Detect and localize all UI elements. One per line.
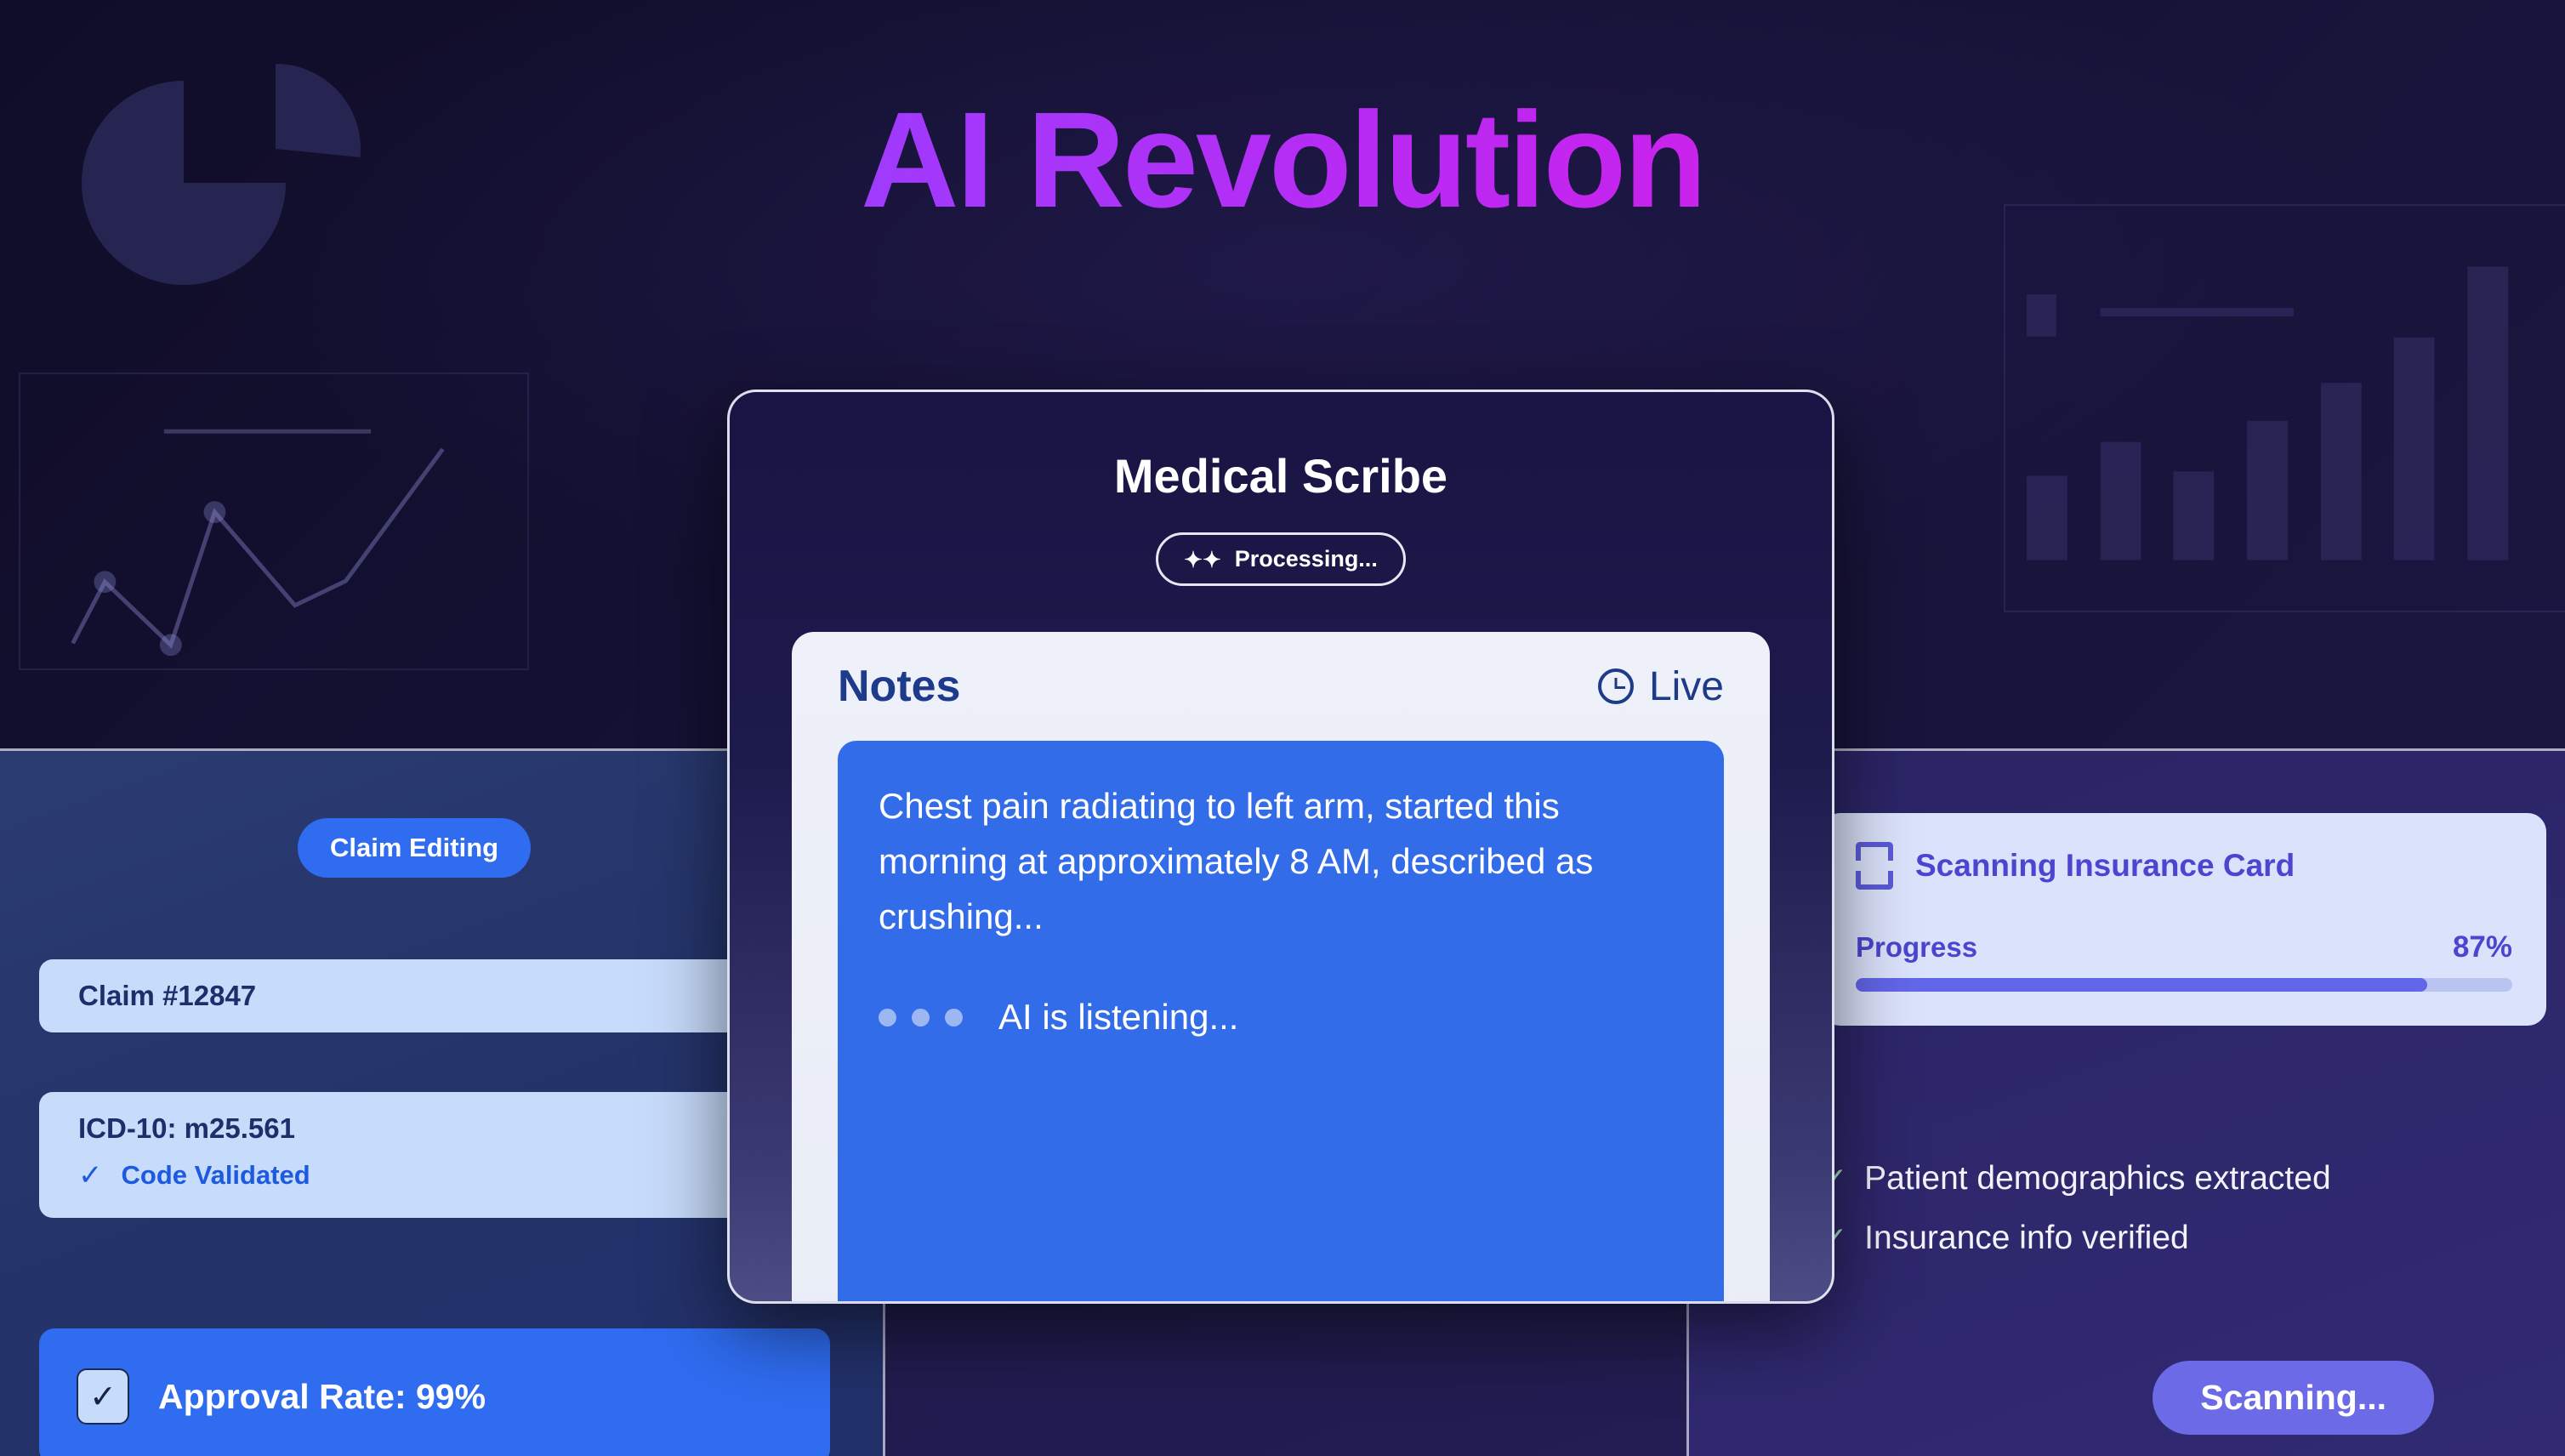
ai-listening-label: AI is listening... [998,997,1238,1038]
approval-rate-card[interactable]: ✓ Approval Rate: 99% [39,1328,830,1456]
live-label: Live [1649,663,1724,710]
notes-heading: Notes [838,661,960,712]
approval-checkbox[interactable]: ✓ [77,1368,129,1425]
progress-label: Progress [1856,931,1977,964]
claim-number-label: Claim #12847 [78,980,256,1012]
scan-card-header: Scanning Insurance Card [1856,842,2512,890]
processing-badge[interactable]: ✦✦ Processing... [1156,532,1406,586]
sparkles-icon: ✦✦ [1184,549,1221,571]
scan-title: Scanning Insurance Card [1915,848,2295,884]
processing-label: Processing... [1235,546,1378,572]
clock-icon [1598,668,1634,704]
progress-value: 87% [2453,930,2512,964]
live-indicator: Live [1598,663,1724,710]
app-canvas: AI Revolution Claim Editing Claim #12847… [0,0,2565,1456]
check-icon: ✓ [78,1161,103,1190]
icd-status-label: Code Validated [122,1160,310,1191]
list-item: ✓ Insurance info verified [1822,1220,2546,1257]
progress-bar-track [1856,978,2512,992]
status-item-label: Insurance info verified [1864,1220,2189,1257]
page-title: AI Revolution [0,92,2565,228]
line-chart-decoration [19,373,529,670]
approval-rate-label: Approval Rate: 99% [158,1377,486,1417]
scan-status-list: ✓ Patient demographics extracted ✓ Insur… [1822,1160,2546,1279]
typing-dots-icon [879,1009,963,1027]
modal-title: Medical Scribe [730,448,1832,503]
progress-bar-fill [1856,978,2427,992]
insurance-scan-card: Scanning Insurance Card Progress 87% [1822,813,2546,1026]
bar-chart-decoration [2004,204,2565,612]
transcript-bubble: Chest pain radiating to left arm, starte… [838,741,1724,1304]
notes-header: Notes Live [838,661,1724,712]
list-item: ✓ Patient demographics extracted [1822,1160,2546,1197]
transcript-text: Chest pain radiating to left arm, starte… [879,778,1683,944]
status-item-label: Patient demographics extracted [1864,1160,2330,1197]
progress-row: Progress 87% [1856,930,2512,964]
claim-editing-pill[interactable]: Claim Editing [298,818,531,878]
scanning-button[interactable]: Scanning... [2153,1361,2434,1435]
medical-scribe-modal: Medical Scribe ✦✦ Processing... Notes Li… [727,390,1834,1304]
scan-frame-icon [1856,842,1893,890]
notes-card: Notes Live Chest pain radiating to left … [792,632,1770,1304]
ai-listening-row: AI is listening... [879,997,1683,1038]
